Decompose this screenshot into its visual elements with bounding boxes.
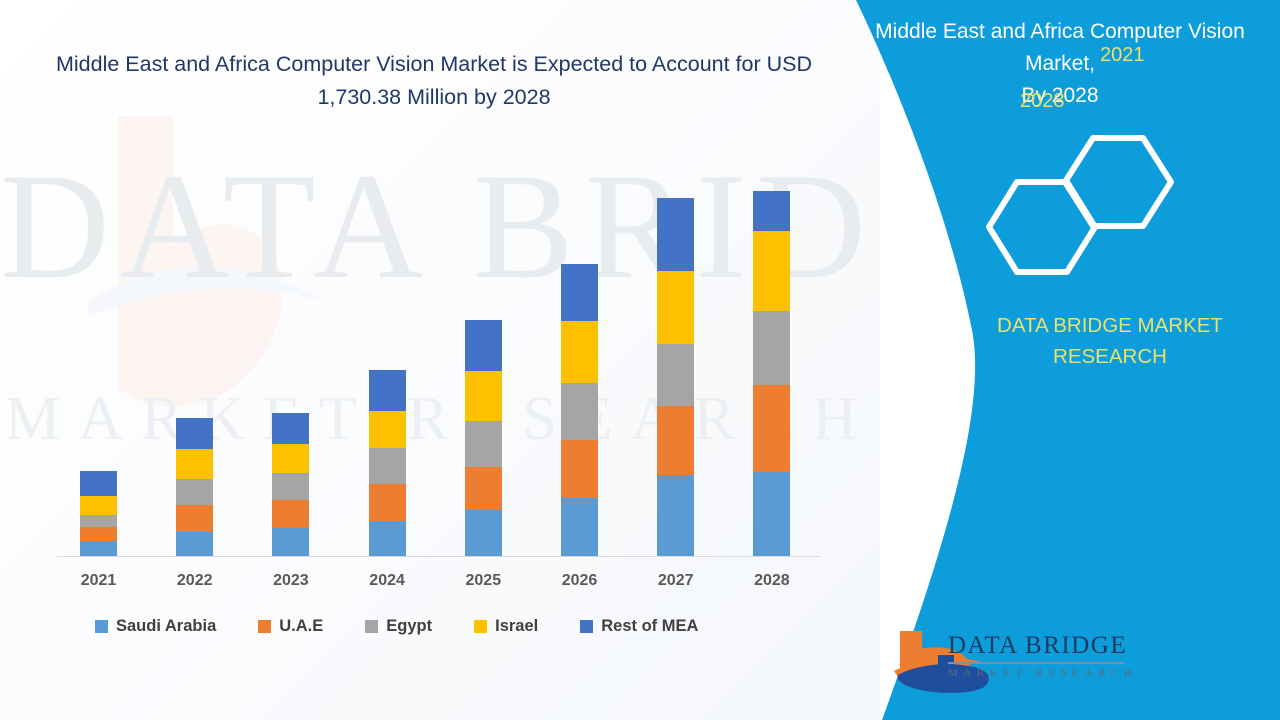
brand-name-text: DATA BRIDGE MARKET RESEARCH <box>950 310 1270 372</box>
bar-2027[interactable] <box>657 198 694 556</box>
plot-area <box>0 0 880 720</box>
bar-segment-saudi-arabia-2022[interactable] <box>176 532 213 556</box>
bar-segment-egypt-2026[interactable] <box>561 383 598 440</box>
infographic-root: DATA BRIDGE MARKET RESEARCH Middle East … <box>0 0 1280 720</box>
x-axis-label-2025: 2025 <box>453 572 513 590</box>
bar-segment-israel-2021[interactable] <box>80 496 117 515</box>
bar-segment-egypt-2022[interactable] <box>176 479 213 506</box>
bar-segment-rest-of-mea-2028[interactable] <box>753 191 790 230</box>
legend-label: Saudi Arabia <box>116 617 216 636</box>
legend-swatch-icon <box>95 620 108 633</box>
bar-segment-saudi-arabia-2026[interactable] <box>561 498 598 556</box>
bar-segment-rest-of-mea-2024[interactable] <box>369 370 406 411</box>
logo-main-text: DATA BRIDGE <box>948 631 1137 661</box>
bar-segment-rest-of-mea-2025[interactable] <box>465 320 502 372</box>
x-axis-label-2027: 2027 <box>646 572 706 590</box>
brand-panel: Middle East and Africa Computer Vision M… <box>820 0 1280 720</box>
x-axis-labels: 20212022202320242025202620272028 <box>0 572 880 598</box>
bar-2025[interactable] <box>465 320 502 556</box>
hexagon-2028-icon <box>989 182 1095 272</box>
x-axis-line <box>57 556 820 557</box>
bar-segment-israel-2023[interactable] <box>272 444 309 473</box>
x-axis-label-2026: 2026 <box>550 572 610 590</box>
logo-text-block: DATA BRIDGE MARKET RESEARCH <box>948 631 1137 679</box>
bar-segment-saudi-arabia-2023[interactable] <box>272 528 309 556</box>
bar-segment-u-a-e-2028[interactable] <box>753 385 790 472</box>
logo-divider <box>948 662 1124 664</box>
bar-segment-u-a-e-2024[interactable] <box>369 484 406 522</box>
bar-segment-u-a-e-2022[interactable] <box>176 505 213 532</box>
x-axis-label-2022: 2022 <box>165 572 225 590</box>
bar-segment-egypt-2023[interactable] <box>272 473 309 500</box>
panel-content: Middle East and Africa Computer Vision M… <box>820 0 1280 720</box>
legend-item-israel[interactable]: Israel <box>474 617 538 636</box>
bar-segment-rest-of-mea-2027[interactable] <box>657 198 694 271</box>
legend-item-saudi-arabia[interactable]: Saudi Arabia <box>95 617 216 636</box>
legend-label: Egypt <box>386 617 432 636</box>
bar-2028[interactable] <box>753 191 790 556</box>
legend-label: Rest of MEA <box>601 617 698 636</box>
bar-segment-egypt-2027[interactable] <box>657 344 694 406</box>
bar-segment-saudi-arabia-2027[interactable] <box>657 475 694 556</box>
hexagon-badges <box>975 130 1205 295</box>
chart-panel: DATA BRIDGE MARKET RESEARCH Middle East … <box>0 0 880 720</box>
bar-2026[interactable] <box>561 264 598 556</box>
bar-2024[interactable] <box>369 370 406 556</box>
legend-swatch-icon <box>258 620 271 633</box>
hex-badge-label-2021: 2021 <box>1100 44 1145 67</box>
x-axis-label-2023: 2023 <box>261 572 321 590</box>
legend-swatch-icon <box>474 620 487 633</box>
bar-segment-saudi-arabia-2028[interactable] <box>753 472 790 556</box>
bar-segment-israel-2025[interactable] <box>465 371 502 420</box>
x-axis-label-2021: 2021 <box>69 572 129 590</box>
logo-sub-text: MARKET RESEARCH <box>948 667 1137 679</box>
bar-segment-u-a-e-2021[interactable] <box>80 527 117 541</box>
chart-legend: Saudi ArabiaU.A.EEgyptIsraelRest of MEA <box>95 617 740 636</box>
bar-2021[interactable] <box>80 471 117 556</box>
hexagon-outlines-icon <box>975 130 1205 295</box>
legend-item-rest-of-mea[interactable]: Rest of MEA <box>580 617 698 636</box>
bar-segment-egypt-2028[interactable] <box>753 311 790 384</box>
bar-segment-saudi-arabia-2024[interactable] <box>369 521 406 556</box>
bar-segment-egypt-2021[interactable] <box>80 515 117 527</box>
legend-item-u-a-e[interactable]: U.A.E <box>258 617 323 636</box>
bar-segment-rest-of-mea-2026[interactable] <box>561 264 598 321</box>
hexagon-2021-icon <box>1065 138 1171 226</box>
bar-segment-rest-of-mea-2022[interactable] <box>176 418 213 449</box>
bar-segment-israel-2026[interactable] <box>561 321 598 383</box>
bar-2023[interactable] <box>272 413 309 556</box>
bar-segment-rest-of-mea-2023[interactable] <box>272 413 309 444</box>
bar-segment-israel-2024[interactable] <box>369 411 406 448</box>
x-axis-label-2024: 2024 <box>357 572 417 590</box>
bar-segment-u-a-e-2027[interactable] <box>657 406 694 475</box>
bar-segment-egypt-2025[interactable] <box>465 421 502 467</box>
bar-segment-israel-2027[interactable] <box>657 271 694 344</box>
legend-label: U.A.E <box>279 617 323 636</box>
x-axis-label-2028: 2028 <box>742 572 802 590</box>
legend-item-egypt[interactable]: Egypt <box>365 617 432 636</box>
bar-segment-u-a-e-2023[interactable] <box>272 500 309 528</box>
bar-segment-u-a-e-2025[interactable] <box>465 467 502 510</box>
bar-segment-saudi-arabia-2025[interactable] <box>465 510 502 556</box>
bar-segment-saudi-arabia-2021[interactable] <box>80 541 117 556</box>
bar-segment-egypt-2024[interactable] <box>369 448 406 484</box>
hex-badge-label-2028: 2028 <box>1020 90 1065 113</box>
legend-swatch-icon <box>365 620 378 633</box>
legend-label: Israel <box>495 617 538 636</box>
bar-2022[interactable] <box>176 418 213 556</box>
bar-segment-israel-2022[interactable] <box>176 449 213 479</box>
bar-segment-israel-2028[interactable] <box>753 231 790 312</box>
bar-segment-rest-of-mea-2021[interactable] <box>80 471 117 496</box>
legend-swatch-icon <box>580 620 593 633</box>
bar-segment-u-a-e-2026[interactable] <box>561 440 598 498</box>
